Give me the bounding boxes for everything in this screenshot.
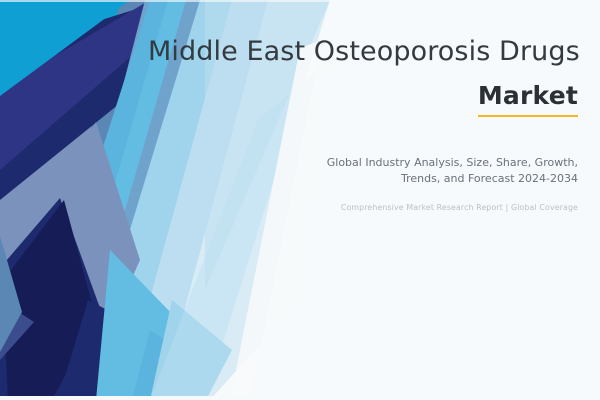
page-title-market: Market <box>478 81 578 117</box>
top-edge-strip <box>0 0 600 2</box>
cover-text-block: Middle East Osteoporosis Drugs Market Gl… <box>148 36 578 212</box>
bottom-edge-strip <box>0 396 600 400</box>
report-tagline: Comprehensive Market Research Report | G… <box>148 203 578 212</box>
title-market-row: Market <box>148 81 578 117</box>
report-subtitle-line1: Global Industry Analysis, Size, Share, G… <box>327 156 578 169</box>
report-cover: Middle East Osteoporosis Drugs Market Gl… <box>0 0 600 400</box>
report-subtitle-line2: Trends, and Forecast 2024-2034 <box>401 172 578 185</box>
page-title: Middle East Osteoporosis Drugs <box>148 36 578 68</box>
report-subtitle: Global Industry Analysis, Size, Share, G… <box>148 155 578 187</box>
